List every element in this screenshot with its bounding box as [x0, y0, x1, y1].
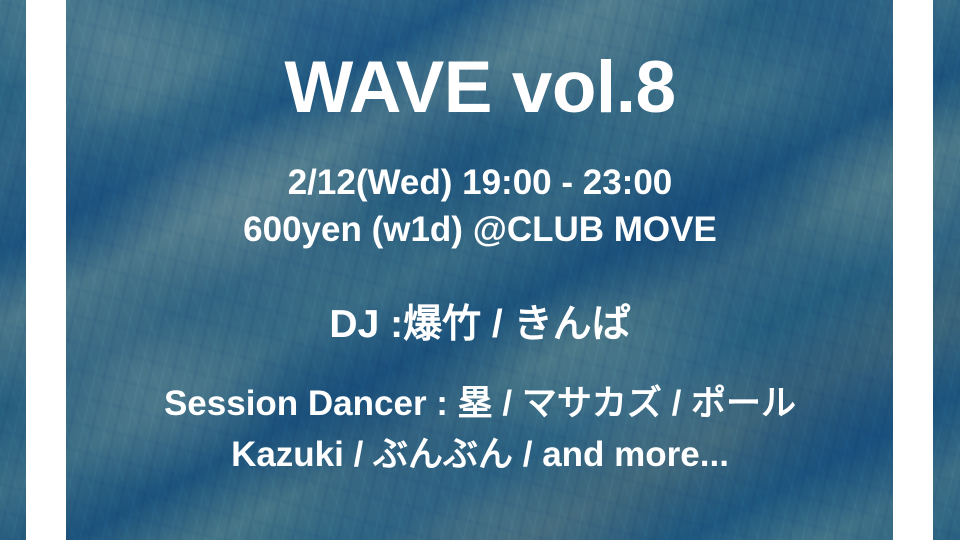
- flyer-content: WAVE vol.8 2/12(Wed) 19:00 - 23:00 600ye…: [0, 0, 960, 540]
- dj-lineup: DJ :爆竹 / きんぱ: [0, 302, 960, 349]
- event-flyer: WAVE vol.8 2/12(Wed) 19:00 - 23:00 600ye…: [0, 0, 960, 540]
- session-dancer-lineup: Session Dancer : 塁 / マサカズ / ポール: [0, 378, 960, 429]
- session-dancer-lineup-continued: Kazuki / ぶんぶん / and more...: [0, 429, 960, 480]
- dj-lineup-block: DJ :爆竹 / きんぱ: [0, 302, 960, 349]
- event-title: WAVE vol.8: [0, 50, 960, 127]
- event-price-venue: 600yen (w1d) @CLUB MOVE: [0, 207, 960, 254]
- dancer-lineup-block: Session Dancer : 塁 / マサカズ / ポール Kazuki /…: [0, 378, 960, 480]
- event-datetime-block: 2/12(Wed) 19:00 - 23:00 600yen (w1d) @CL…: [0, 160, 960, 254]
- event-date-time: 2/12(Wed) 19:00 - 23:00: [0, 160, 960, 207]
